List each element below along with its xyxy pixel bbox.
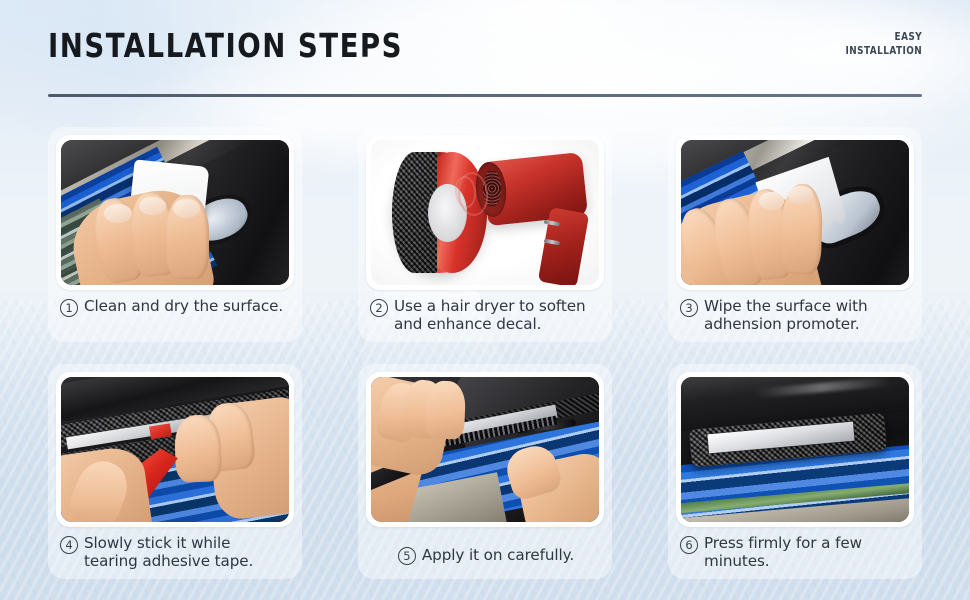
step-card-1: 1 Clean and dry the surface. xyxy=(48,127,302,342)
steps-grid: 1 Clean and dry the surface. 2 xyxy=(48,127,922,579)
step-card-6: 6 Press firmly for a few minutes. xyxy=(668,364,922,579)
step-caption-6: 6 Press firmly for a few minutes. xyxy=(676,527,914,579)
step-card-2: 2 Use a hair dryer to soften and enhance… xyxy=(358,127,612,342)
step-text-6: Press firmly for a few minutes. xyxy=(704,534,862,571)
header: INSTALLATION STEPS EASY INSTALLATION xyxy=(0,0,970,110)
step-number-3: 3 xyxy=(680,299,698,317)
step-text-1: Clean and dry the surface. xyxy=(84,297,283,315)
step-text-1-line-1: Clean and dry the surface. xyxy=(84,297,283,315)
photo-finished-sill-press-firmly xyxy=(681,377,909,522)
step-text-3-line-2: adhension promoter. xyxy=(704,315,868,333)
step-text-6-line-2: minutes. xyxy=(704,552,862,570)
photo-stick-while-tearing-tape xyxy=(61,377,289,522)
step-number-6: 6 xyxy=(680,536,698,554)
photo-hair-dryer-and-tape-roll xyxy=(371,140,599,285)
photo-frame-2 xyxy=(366,135,604,290)
step-text-6-line-1: Press firmly for a few xyxy=(704,534,862,552)
tagline-line-2: INSTALLATION xyxy=(845,44,922,58)
step-number-1: 1 xyxy=(60,299,78,317)
tagline: EASY INSTALLATION xyxy=(845,30,922,58)
photo-wipe-with-adhesion-promoter xyxy=(681,140,909,285)
step-number-5: 5 xyxy=(398,547,416,565)
step-text-2: Use a hair dryer to soften and enhance d… xyxy=(394,297,586,334)
page-title: INSTALLATION STEPS xyxy=(48,26,403,65)
step-text-4-line-1: Slowly stick it while xyxy=(84,534,253,552)
step-text-2-line-1: Use a hair dryer to soften xyxy=(394,297,586,315)
photo-frame-4 xyxy=(56,372,294,527)
step-text-4-line-2: tearing adhesive tape. xyxy=(84,552,253,570)
step-caption-5: 5 Apply it on carefully. xyxy=(366,527,604,579)
installation-steps-infographic: INSTALLATION STEPS EASY INSTALLATION 1 xyxy=(0,0,970,600)
step-number-4: 4 xyxy=(60,536,78,554)
step-text-3-line-1: Wipe the surface with xyxy=(704,297,868,315)
step-card-4: 4 Slowly stick it while tearing adhesive… xyxy=(48,364,302,579)
step-caption-1: 1 Clean and dry the surface. xyxy=(56,290,294,342)
step-card-5: 5 Apply it on carefully. xyxy=(358,364,612,579)
photo-apply-carefully xyxy=(371,377,599,522)
header-divider xyxy=(48,94,922,97)
photo-clean-surface-with-cloth xyxy=(61,140,289,285)
photo-frame-3 xyxy=(676,135,914,290)
photo-frame-6 xyxy=(676,372,914,527)
step-text-3: Wipe the surface with adhension promoter… xyxy=(704,297,868,334)
step-caption-3: 3 Wipe the surface with adhension promot… xyxy=(676,290,914,342)
step-text-5-line-1: Apply it on carefully. xyxy=(422,546,574,564)
tagline-line-1: EASY xyxy=(845,30,922,44)
step-text-2-line-2: and enhance decal. xyxy=(394,315,586,333)
step-text-5: Apply it on carefully. xyxy=(422,546,574,564)
photo-frame-1 xyxy=(56,135,294,290)
step-caption-4: 4 Slowly stick it while tearing adhesive… xyxy=(56,527,294,579)
step-card-3: 3 Wipe the surface with adhension promot… xyxy=(668,127,922,342)
photo-frame-5 xyxy=(366,372,604,527)
step-text-4: Slowly stick it while tearing adhesive t… xyxy=(84,534,253,571)
step-number-2: 2 xyxy=(370,299,388,317)
step-caption-2: 2 Use a hair dryer to soften and enhance… xyxy=(366,290,604,342)
